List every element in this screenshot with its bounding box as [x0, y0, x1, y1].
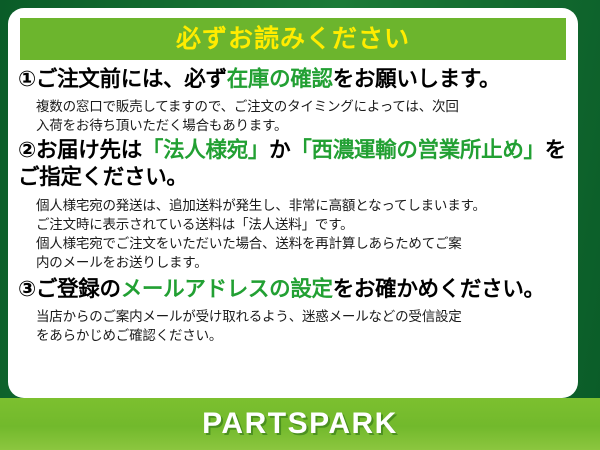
notice-item-2-heading-part-1: 「法人様宛」: [142, 138, 269, 162]
notice-title-bar: 必ずお読みください: [20, 18, 566, 60]
notice-item-2-heading: ②お届け先は「法人様宛」か「西濃運輸の営業所止め」をご指定ください。: [18, 137, 568, 192]
notice-item-1-heading-part-1: 在庫の確認: [227, 67, 333, 91]
brand-logo: PARTSPARK: [202, 409, 398, 439]
notice-item-1-heading: ①ご注文前には、必ず在庫の確認をお願いします。: [18, 66, 568, 94]
notice-item-1-heading-part-2: をお願いします。: [333, 67, 500, 91]
notice-item-3-body: 当店からのご案内メールが受け取れるよう、迷惑メールなどの受信設定 をあらかじめご…: [36, 307, 568, 345]
notice-item-2-heading-part-3: 「西濃運輸の営業所止め」: [290, 138, 544, 162]
notice-item-2: ②お届け先は「法人様宛」か「西濃運輸の営業所止め」をご指定ください。 個人様宅宛…: [18, 137, 568, 273]
notice-item-1: ①ご注文前には、必ず在庫の確認をお願いします。 複数の窓口で販売してますので、ご…: [18, 66, 568, 135]
notice-item-2-heading-part-0: ②お届け先は: [18, 138, 142, 162]
page-title: 必ずお読みください: [176, 27, 410, 52]
notice-banner: 必ずお読みください ①ご注文前には、必ず在庫の確認をお願いします。 複数の窓口で…: [0, 0, 600, 450]
notice-item-1-heading-part-0: ①ご注文前には、必ず: [18, 67, 227, 91]
notice-item-3-heading-part-2: をお確かめください。: [333, 277, 545, 301]
notice-item-3-heading: ③ご登録のメールアドレスの設定をお確かめください。: [18, 276, 568, 304]
notice-item-2-body: 個人様宅宛の発送は、追加送料が発生し、非常に高額となってしまいます。 ご注文時に…: [36, 196, 568, 273]
notice-content: ①ご注文前には、必ず在庫の確認をお願いします。 複数の窓口で販売してますので、ご…: [8, 66, 578, 347]
notice-item-3: ③ご登録のメールアドレスの設定をお確かめください。 当店からのご案内メールが受け…: [18, 276, 568, 345]
notice-item-3-heading-part-0: ③ご登録の: [18, 277, 121, 301]
footer-bar: PARTSPARK: [0, 398, 600, 450]
notice-item-2-heading-part-2: か: [269, 138, 290, 162]
notice-item-1-body: 複数の窓口で販売してますので、ご注文のタイミングによっては、次回 入荷をお待ち頂…: [36, 97, 568, 135]
notice-item-3-heading-part-1: メールアドレスの設定: [121, 277, 333, 301]
notice-card: 必ずお読みください ①ご注文前には、必ず在庫の確認をお願いします。 複数の窓口で…: [8, 8, 578, 398]
